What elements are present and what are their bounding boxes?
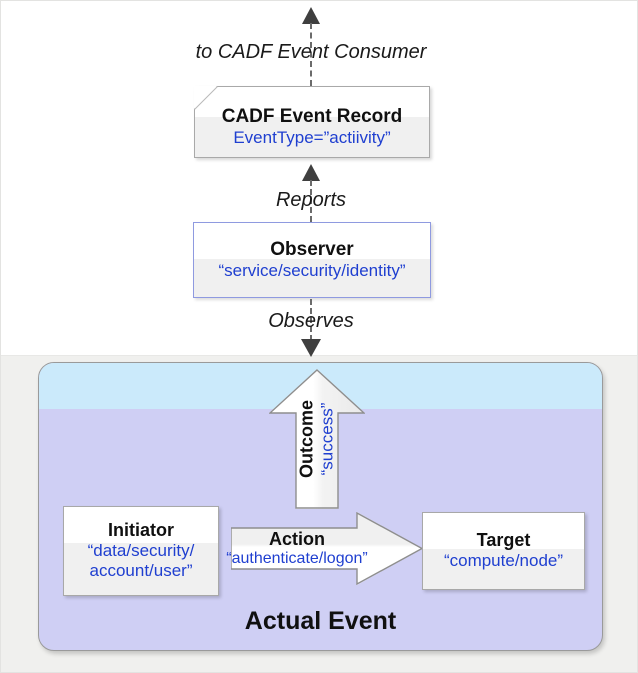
actual-event-label: Actual Event (39, 607, 602, 636)
outcome-value: “success” (317, 403, 337, 476)
cadf-record-title: CADF Event Record (222, 106, 403, 128)
observer-value: “service/security/identity” (218, 261, 405, 281)
cadf-record-value: EventType=”actiivity” (233, 128, 390, 148)
initiator-box[interactable]: Initiator “data/security/ account/user” (63, 506, 219, 596)
cadf-event-record-box[interactable]: CADF Event Record EventType=”actiivity” (194, 86, 430, 158)
observer-title: Observer (270, 239, 353, 261)
target-title: Target (477, 530, 531, 551)
outcome-arrow[interactable]: Outcome “success” (269, 369, 365, 509)
observer-box[interactable]: Observer “service/security/identity” (193, 222, 431, 298)
outcome-title: Outcome (296, 400, 317, 478)
edge-label-to-consumer: to CADF Event Consumer (165, 41, 457, 64)
arrow-observes-head (301, 339, 321, 357)
diagram-canvas: to CADF Event Consumer CADF Event Record… (0, 0, 638, 673)
initiator-title: Initiator (108, 520, 174, 541)
action-value: “authenticate/logon” (226, 549, 367, 568)
initiator-value-line1: “data/security/ (88, 541, 195, 561)
target-box[interactable]: Target “compute/node” (422, 512, 585, 590)
action-arrow[interactable]: Action “authenticate/logon” (231, 512, 423, 585)
arrow-to-consumer-head (302, 7, 320, 24)
initiator-value-line2: account/user” (90, 561, 193, 581)
action-title: Action (269, 529, 325, 550)
arrow-reports-head (302, 164, 320, 181)
edge-label-reports: Reports (240, 189, 382, 212)
edge-label-observes: Observes (236, 310, 386, 333)
target-value: “compute/node” (444, 551, 563, 571)
